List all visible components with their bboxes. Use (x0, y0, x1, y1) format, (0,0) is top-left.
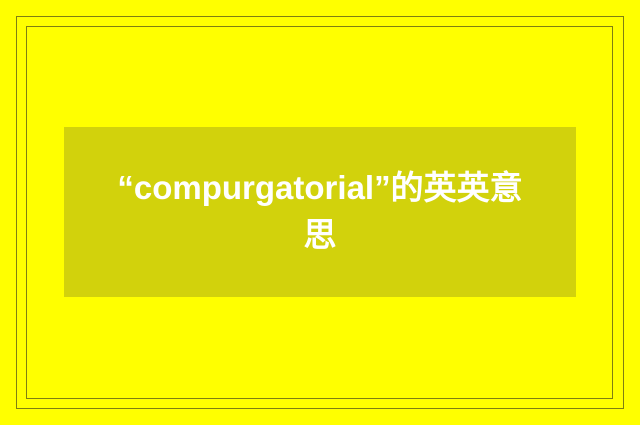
page-title: “compurgatorial”的英英意思 (110, 165, 530, 259)
poster-canvas: “compurgatorial”的英英意思 (0, 0, 640, 425)
title-panel: “compurgatorial”的英英意思 (64, 127, 576, 297)
